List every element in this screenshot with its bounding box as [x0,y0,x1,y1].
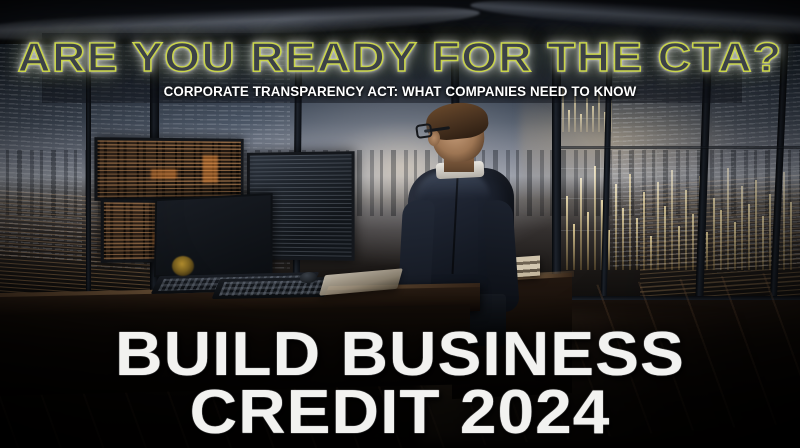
main-title-line-1: BUILD BUSINESS [0,326,800,384]
main-title-line-2: CREDIT 2024 [0,384,800,442]
screen-highlight [151,169,177,179]
monitor-top [94,137,243,201]
subheadline: CORPORATE TRANSPARENCY ACT: WHAT COMPANI… [4,84,796,99]
screen-highlight [202,155,217,183]
glasses-lens [415,123,433,139]
desk-plant [172,256,194,276]
headline: ARE YOU READY FOR THE CTA? [0,36,800,78]
stock-chart-overlay [560,150,800,270]
poster-banner: ARE YOU READY FOR THE CTA? CORPORATE TRA… [0,0,800,448]
window-transom [560,146,800,149]
main-title: BUILD BUSINESS CREDIT 2024 [0,326,800,442]
